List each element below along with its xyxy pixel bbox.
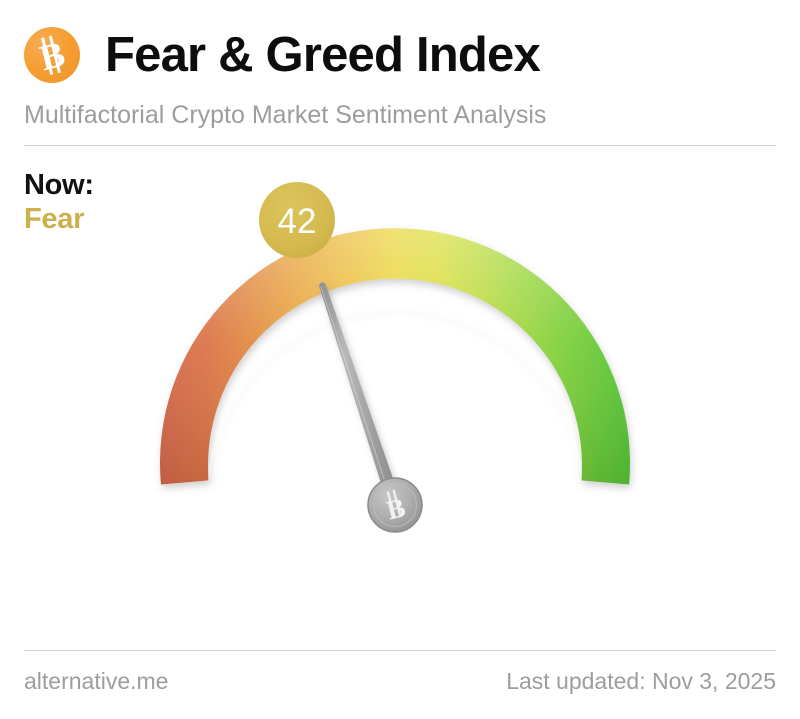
fear-greed-gauge: B 42 [0, 150, 800, 650]
page-subtitle: Multifactorial Crypto Market Sentiment A… [24, 102, 776, 130]
page-title: Fear & Greed Index [105, 31, 540, 80]
footer-divider [24, 650, 776, 651]
gauge-needle [319, 282, 401, 509]
page-header: B Fear & Greed Index Multifactorial Cryp… [24, 18, 776, 138]
bitcoin-icon: B [24, 27, 80, 83]
page-footer: alternative.me Last updated: Nov 3, 2025 [24, 668, 776, 695]
gauge-value-text: 42 [278, 202, 317, 241]
source-link[interactable]: alternative.me [24, 668, 168, 695]
fear-greed-index-page: B Fear & Greed Index Multifactorial Cryp… [0, 0, 800, 719]
gauge-value-badge: 42 [259, 182, 335, 258]
brand-row: B Fear & Greed Index [24, 18, 776, 92]
gauge-hub-bitcoin-icon: B [368, 478, 422, 532]
gauge-arc [160, 228, 630, 484]
header-divider [24, 145, 776, 146]
last-updated-text: Last updated: Nov 3, 2025 [506, 668, 776, 695]
